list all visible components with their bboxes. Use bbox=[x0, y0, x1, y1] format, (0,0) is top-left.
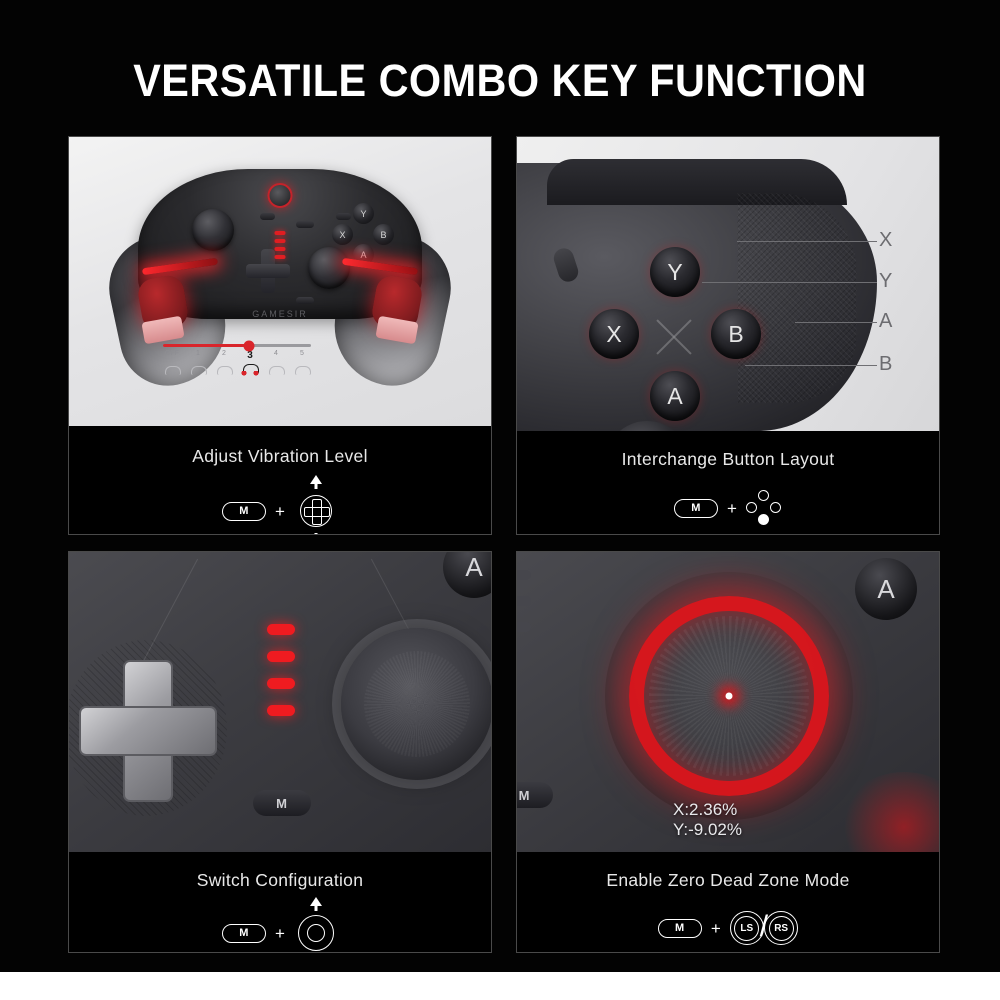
profile-led-3 bbox=[517, 622, 531, 632]
ls-icon-label: LS bbox=[734, 916, 759, 941]
led-indicator bbox=[275, 231, 286, 235]
caption-title-interchange-button-layout: Interchange Button Layout bbox=[517, 449, 939, 470]
axis-readout-x: X:2.36% bbox=[673, 800, 742, 820]
caption-title-switch-configuration: Switch Configuration bbox=[69, 870, 491, 891]
controller-shell-closeup: Y X B A bbox=[517, 163, 877, 431]
stick-center-dot bbox=[726, 693, 733, 700]
dpad-closeup[interactable] bbox=[69, 640, 227, 816]
m-button-icon[interactable]: M bbox=[674, 499, 718, 518]
combo-keys-adjust-vibration: M + bbox=[69, 489, 491, 533]
plus-sign: + bbox=[275, 925, 285, 942]
led-indicator bbox=[275, 247, 286, 251]
minus-button bbox=[260, 213, 275, 220]
brand-logo: GAMESIR bbox=[252, 309, 308, 319]
leader-line-a bbox=[795, 322, 877, 323]
face-button-x: X bbox=[332, 224, 353, 245]
dpad-arrow-up-icon bbox=[310, 475, 322, 484]
face-button-a[interactable]: A bbox=[650, 371, 700, 421]
dpad-cross bbox=[79, 660, 213, 798]
slider-tick-off: OFF bbox=[163, 350, 181, 361]
vibration-icon-4 bbox=[267, 362, 285, 375]
diamond-button-left bbox=[746, 502, 757, 513]
slider-tick-3: 3 bbox=[241, 350, 259, 361]
face-button-b[interactable]: B bbox=[711, 309, 761, 359]
caption-title-adjust-vibration-level: Adjust Vibration Level bbox=[69, 446, 491, 467]
face-button-a[interactable]: A bbox=[443, 552, 491, 598]
profile-led-2 bbox=[517, 596, 531, 606]
axis-readout-y: Y:-9.02% bbox=[673, 820, 742, 840]
vibration-icon-3-active bbox=[241, 362, 259, 375]
remap-label-b: B bbox=[879, 353, 892, 376]
rs-icon[interactable]: RS bbox=[764, 911, 798, 945]
profile-led-1 bbox=[517, 570, 531, 580]
slider-tick-labels: OFF 1 2 3 4 5 bbox=[163, 350, 311, 361]
panel-4-caption: Enable Zero Dead Zone Mode M + LS / RS bbox=[517, 852, 939, 953]
panel-3-caption: Switch Configuration M + bbox=[69, 852, 491, 953]
ls-icon[interactable]: LS bbox=[730, 911, 764, 945]
combo-keys-switch-configuration: M + bbox=[69, 911, 491, 953]
caption-title-enable-zero-dead-zone-mode: Enable Zero Dead Zone Mode bbox=[517, 870, 939, 891]
leader-line-b bbox=[745, 365, 877, 366]
dpad-icon[interactable] bbox=[294, 489, 338, 533]
vibration-strength-icons bbox=[163, 362, 311, 375]
combo-keys-interchange: M + bbox=[517, 490, 939, 526]
axis-readout: X:2.36% Y:-9.02% bbox=[673, 800, 742, 840]
diamond-button-right bbox=[770, 502, 781, 513]
face-button-y[interactable]: Y bbox=[650, 247, 700, 297]
corner-red-glow bbox=[839, 772, 939, 852]
analog-stick-icon[interactable] bbox=[294, 911, 338, 953]
led-indicator bbox=[275, 239, 286, 243]
face-button-b: B bbox=[373, 224, 394, 245]
slider-tick-4: 4 bbox=[267, 350, 285, 361]
slider-tick-1: 1 bbox=[189, 350, 207, 361]
panel-2-caption: Interchange Button Layout M + bbox=[517, 431, 939, 535]
slider-track[interactable] bbox=[163, 344, 311, 347]
panel-1-image: Y X B A GAMESIR bbox=[69, 137, 491, 426]
dpad-arrow-down-stem bbox=[314, 533, 317, 535]
m-button[interactable]: M bbox=[517, 782, 553, 808]
infographic-page: VERSATILE COMBO KEY FUNCTION bbox=[0, 0, 1000, 1000]
screenshot-button bbox=[296, 297, 314, 304]
function-button bbox=[551, 246, 581, 285]
vibration-icon-1 bbox=[189, 362, 207, 375]
profile-led-3 bbox=[267, 678, 295, 689]
left-stick-partial bbox=[605, 421, 689, 431]
profile-led-group-dim bbox=[517, 570, 531, 632]
panel-interchange-button-layout: Y X B A X Y A B Interchange Button Layou… bbox=[516, 136, 940, 535]
led-indicator bbox=[275, 255, 286, 259]
slider-knob[interactable] bbox=[243, 340, 254, 351]
leader-line-x bbox=[737, 241, 877, 242]
profile-led-2 bbox=[267, 651, 295, 662]
decorative-x-cross bbox=[651, 313, 699, 361]
diamond-button-top bbox=[758, 490, 769, 501]
stick-icon-inner-ring bbox=[307, 924, 325, 942]
stick-click-icons: LS / RS bbox=[730, 911, 798, 945]
plus-sign: + bbox=[711, 920, 721, 937]
home-button bbox=[268, 183, 293, 208]
vibration-icon-2 bbox=[215, 362, 233, 375]
abxy-diamond-icon[interactable] bbox=[746, 490, 782, 526]
vibration-icon-5 bbox=[293, 362, 311, 375]
capture-button bbox=[296, 221, 314, 228]
left-stick bbox=[192, 209, 234, 251]
plus-sign: + bbox=[727, 500, 737, 517]
dead-zone-stick[interactable] bbox=[605, 572, 853, 820]
slider-fill bbox=[163, 344, 249, 347]
profile-led-group bbox=[267, 624, 295, 716]
vibration-icon-off bbox=[163, 362, 181, 375]
remap-label-a: A bbox=[879, 310, 892, 333]
panel-switch-configuration: M A Switch Configuration M + bbox=[68, 551, 492, 953]
panel-enable-zero-dead-zone-mode: M A X:2.36% Y:-9.02% Enable Zero Dead Zo… bbox=[516, 551, 940, 953]
plus-sign: + bbox=[275, 503, 285, 520]
slider-tick-2: 2 bbox=[215, 350, 233, 361]
panel-3-image: M A bbox=[69, 552, 491, 852]
grip-texture bbox=[737, 193, 857, 403]
m-button-icon[interactable]: M bbox=[222, 924, 266, 943]
slider-tick-5: 5 bbox=[293, 350, 311, 361]
diamond-button-bottom-active bbox=[758, 514, 769, 525]
face-button-a[interactable]: A bbox=[855, 558, 917, 620]
m-button-icon[interactable]: M bbox=[658, 919, 702, 938]
page-title: VERSATILE COMBO KEY FUNCTION bbox=[40, 55, 960, 107]
right-stick-closeup[interactable] bbox=[341, 628, 491, 780]
profile-led-1 bbox=[267, 624, 295, 635]
panel-4-image: M A X:2.36% Y:-9.02% bbox=[517, 552, 939, 852]
led-indicator-group bbox=[275, 231, 286, 259]
profile-led-4 bbox=[267, 705, 295, 716]
panel-1-caption: Adjust Vibration Level M + bbox=[69, 426, 491, 535]
face-button-x[interactable]: X bbox=[589, 309, 639, 359]
remap-label-x: X bbox=[879, 229, 892, 252]
remap-label-y: Y bbox=[879, 270, 892, 293]
rs-icon-label: RS bbox=[769, 916, 794, 941]
m-button[interactable]: M bbox=[253, 790, 311, 816]
leader-line-y bbox=[702, 282, 877, 283]
panel-adjust-vibration-level: Y X B A GAMESIR bbox=[68, 136, 492, 535]
combo-keys-dead-zone: M + LS / RS bbox=[517, 911, 939, 945]
stick-arrow-up-icon bbox=[310, 897, 322, 906]
face-button-cluster: Y X B A bbox=[332, 203, 394, 265]
panel-2-image: Y X B A X Y A B bbox=[517, 137, 939, 431]
vibration-level-slider[interactable]: OFF 1 2 3 4 5 bbox=[163, 344, 311, 375]
dpad-icon-cross bbox=[305, 500, 327, 522]
face-button-y: Y bbox=[353, 203, 374, 224]
m-button-icon[interactable]: M bbox=[222, 502, 266, 521]
